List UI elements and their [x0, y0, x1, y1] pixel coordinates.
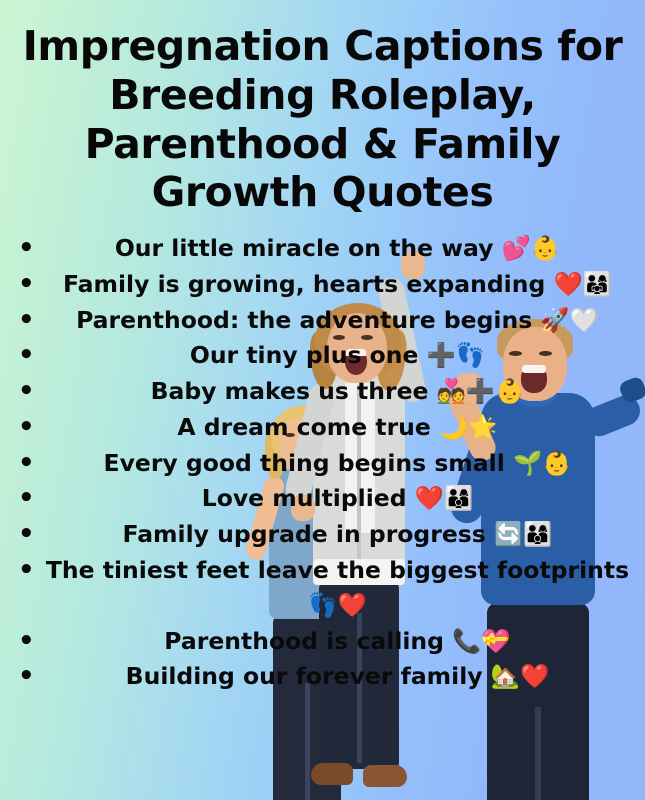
caption-emoji: 👣❤️ — [308, 591, 367, 619]
list-item: Baby makes us three 💑➕👶 — [14, 374, 637, 409]
list-item: Family upgrade in progress 🔄👨‍👩‍👦 — [14, 517, 637, 552]
list-item: The tiniest feet leave the biggest footp… — [14, 553, 637, 623]
caption-emoji: 🔄👨‍👩‍👦 — [494, 520, 553, 548]
poster-content: Impregnation Captions for Breeding Rolep… — [0, 0, 645, 694]
caption-emoji: ❤️👨‍👩‍👧 — [553, 270, 612, 298]
father-leg-split — [535, 707, 541, 800]
caption-text: A dream come true — [177, 413, 430, 441]
caption-emoji: 🌙🌟 — [439, 413, 498, 441]
list-item: Our little miracle on the way 💕👶 — [14, 231, 637, 266]
list-item: A dream come true 🌙🌟 — [14, 410, 637, 445]
caption-emoji: 📞💝 — [452, 627, 511, 655]
caption-text: The tiniest feet leave the biggest footp… — [46, 556, 629, 584]
poster-canvas: Impregnation Captions for Breeding Rolep… — [0, 0, 645, 800]
list-item: Parenthood: the adventure begins 🚀🤍 — [14, 303, 637, 338]
list-item: Love multiplied ❤️👨‍👩‍👦 — [14, 481, 637, 516]
caption-emoji: 💑➕👶 — [437, 377, 525, 405]
caption-text: Family upgrade in progress — [123, 520, 486, 548]
mother-right-shoe — [363, 765, 407, 787]
page-title: Impregnation Captions for Breeding Rolep… — [0, 0, 645, 217]
caption-text: Parenthood is calling — [164, 627, 444, 655]
caption-text: Every good thing begins small — [104, 449, 505, 477]
caption-emoji: 🏡❤️ — [491, 662, 550, 690]
list-item: Family is growing, hearts expanding ❤️👨‍… — [14, 267, 637, 302]
list-item: Every good thing begins small 🌱👶 — [14, 446, 637, 481]
caption-text: Our little miracle on the way — [115, 234, 494, 262]
caption-text: Love multiplied — [202, 484, 407, 512]
caption-text: Family is growing, hearts expanding — [63, 270, 545, 298]
caption-text: Baby makes us three — [151, 377, 429, 405]
caption-text: Building our forever family — [126, 662, 483, 690]
list-item: Our tiny plus one ➕👣 — [14, 338, 637, 373]
caption-list: Our little miracle on the way 💕👶 Family … — [0, 231, 645, 694]
list-item: Parenthood is calling 📞💝 — [14, 624, 637, 659]
caption-text: Our tiny plus one — [190, 341, 419, 369]
caption-emoji: ➕👣 — [427, 341, 486, 369]
caption-emoji: 🚀🤍 — [540, 306, 599, 334]
daughter-leg-split — [305, 683, 310, 800]
caption-emoji: ❤️👨‍👩‍👦 — [415, 484, 474, 512]
caption-emoji: 💕👶 — [502, 234, 561, 262]
caption-text: Parenthood: the adventure begins — [76, 306, 532, 334]
mother-left-shoe — [311, 763, 353, 785]
caption-emoji: 🌱👶 — [513, 449, 572, 477]
list-item: Building our forever family 🏡❤️ — [14, 659, 637, 694]
